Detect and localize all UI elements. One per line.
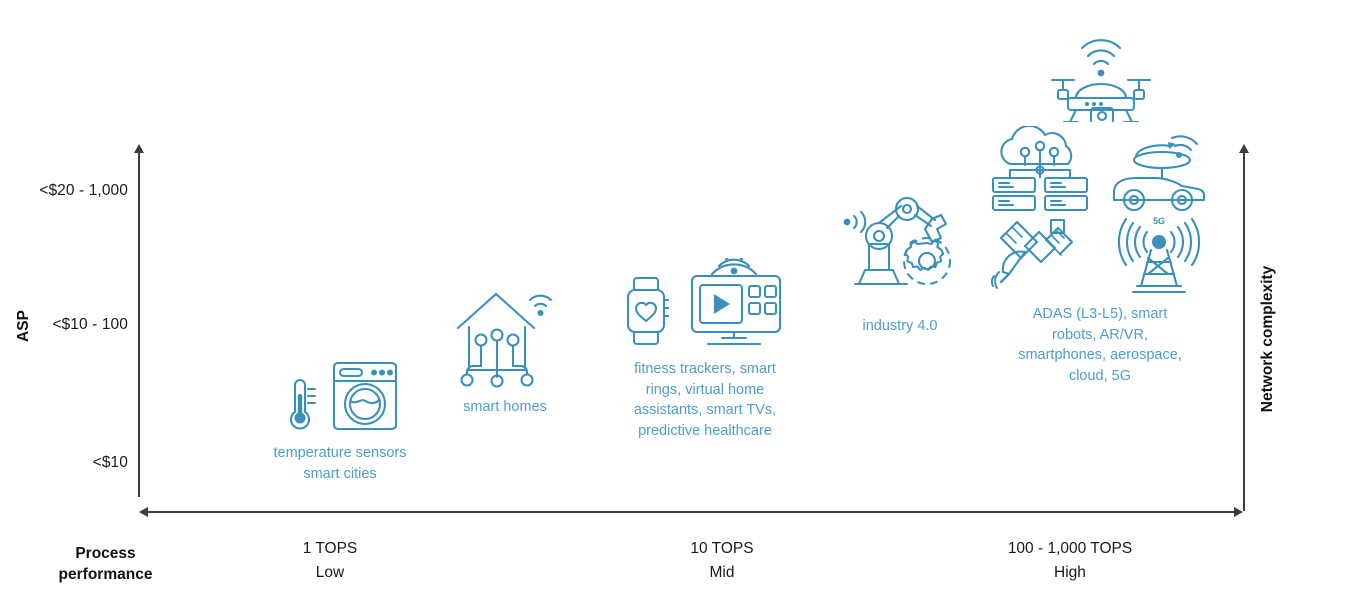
smartwatch-icon [620,274,672,350]
y-axis-right-arrow [1239,144,1249,153]
tower-5g-label: 5G [1153,216,1165,226]
y-tick-top: <$20 - 1,000 [18,182,128,200]
x-axis-left-arrow [139,507,148,517]
x-axis-right-arrow [1234,507,1243,517]
cell-tower-5g-icon: 5G [1107,214,1211,296]
smart-homes-icons [452,280,558,388]
advanced-icons-row1 [1042,34,1158,122]
smart-tv-icon [678,258,790,350]
x-tick-high-value: 100 - 1,000 TOPS [970,537,1170,561]
consumer-caption-line4: predictive healthcare [634,421,776,442]
data-point-sensors[interactable]: temperature sensors smart cities [250,358,430,484]
advanced-icons-row3: 5G [989,214,1211,296]
robot-arm-icon [841,188,959,304]
smart-homes-caption: smart homes [463,397,547,418]
satellite-icon [989,216,1089,296]
sensors-icons [279,358,401,434]
consumer-caption: fitness trackers, smart rings, virtual h… [634,359,776,441]
advanced-caption-line3: smartphones, aerospace, [1018,345,1182,366]
x-tick-mid: 10 TOPS Mid [622,537,822,585]
y-tick-mid: <$10 - 100 [18,316,128,334]
smart-homes-caption-line1: smart homes [463,397,547,418]
consumer-icons [620,258,790,350]
x-tick-high: 100 - 1,000 TOPS High [970,537,1170,585]
y-tick-bottom: <$10 [18,454,128,472]
y-axis-left-arrow [134,144,144,153]
consumer-caption-line1: fitness trackers, smart [634,359,776,380]
advanced-caption-line4: cloud, 5G [1018,366,1182,387]
x-tick-mid-value: 10 TOPS [622,537,822,561]
y-axis-right-label: Network complexity [1259,259,1277,419]
advanced-caption: ADAS (L3-L5), smart robots, AR/VR, smart… [1018,304,1182,386]
advanced-icons-row2 [990,126,1210,212]
sensors-caption: temperature sensors smart cities [274,443,407,484]
consumer-caption-line2: rings, virtual home [634,380,776,401]
sensors-caption-line1: temperature sensors [274,443,407,464]
industry-caption-line1: industry 4.0 [863,316,938,337]
cloud-server-icon [990,126,1090,212]
sensors-caption-line2: smart cities [274,464,407,485]
washing-machine-icon [329,358,401,434]
x-axis-line [147,511,1235,513]
x-tick-low-value: 1 TOPS [230,537,430,561]
consumer-caption-line3: assistants, smart TVs, [634,400,776,421]
chart-canvas: <$20 - 1,000 <$10 - 100 <$10 ASP Network… [0,0,1352,603]
x-axis-title: Process performance [23,544,188,586]
x-tick-low: 1 TOPS Low [230,537,430,585]
connected-car-icon [1106,130,1210,212]
data-point-advanced[interactable]: 5G ADAS (L3-L5), [990,34,1210,386]
x-tick-low-level: Low [230,561,430,585]
x-axis-title-line1: Process [23,544,188,565]
drone-icon [1042,34,1158,122]
y-axis-left-line [138,152,140,497]
y-axis-right-line [1243,152,1245,511]
x-tick-mid-level: Mid [622,561,822,585]
y-axis-left-label: ASP [15,301,33,351]
data-point-smart-homes[interactable]: smart homes [440,280,570,418]
advanced-caption-line1: ADAS (L3-L5), smart [1018,304,1182,325]
industry-icons [841,188,959,304]
data-point-industry[interactable]: industry 4.0 [820,188,980,337]
x-tick-high-level: High [970,561,1170,585]
data-point-consumer[interactable]: fitness trackers, smart rings, virtual h… [610,258,800,441]
x-axis-title-line2: performance [23,565,188,586]
thermometer-icon [279,374,319,434]
advanced-caption-line2: robots, AR/VR, [1018,325,1182,346]
industry-caption: industry 4.0 [863,316,938,337]
smart-home-icon [452,280,558,388]
